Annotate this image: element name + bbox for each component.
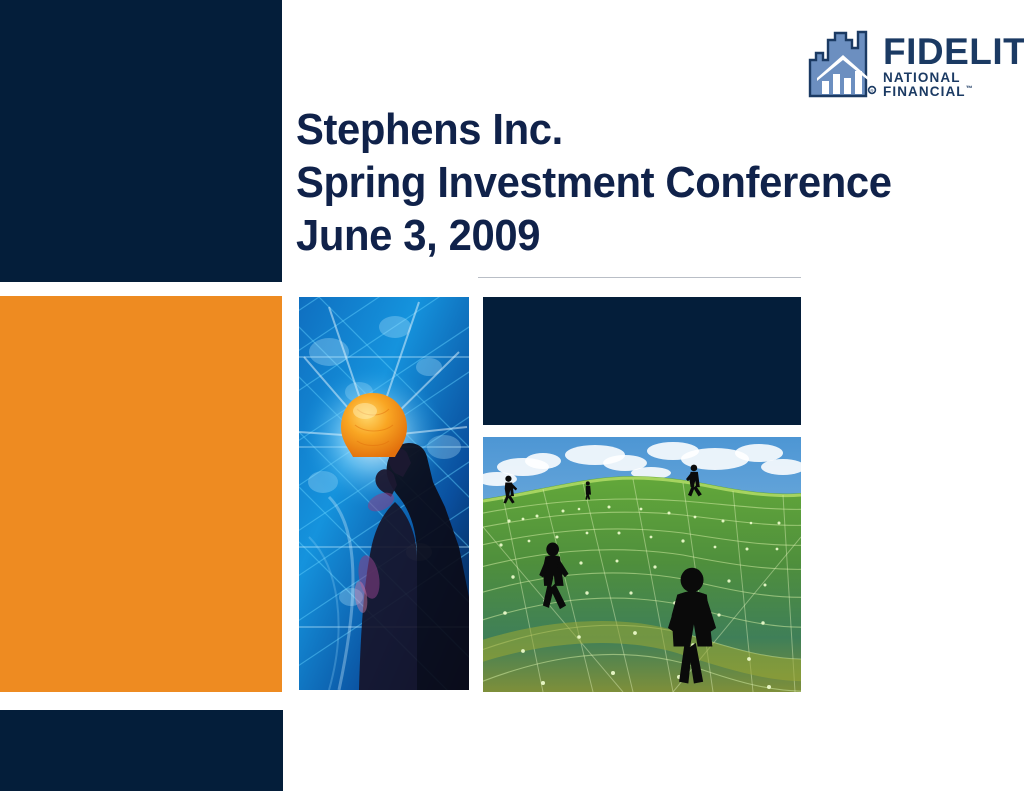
title-divider [478,277,801,278]
decorative-block-navy-middle [483,297,801,425]
logo-wordmark: FIDELITY NATIONAL FINANCIAL™ [883,34,1024,100]
title-line-3: June 3, 2009 [296,209,972,262]
title-line-1: Stephens Inc. [296,103,972,156]
presentation-slide: R FIDELITY NATIONAL FINANCIAL™ Stephens … [0,0,1024,791]
title-line-2: Spring Investment Conference [296,156,972,209]
image-hand-holding-glowing-bulb [299,297,469,690]
decorative-block-navy-top [0,0,282,282]
image-business-figures-circuit-landscape [483,437,801,692]
decorative-block-orange [0,296,282,692]
slide-title: Stephens Inc. Spring Investment Conferen… [296,103,1008,262]
logo-brand-text: FIDELITY [883,34,1024,69]
logo-subtitle-text: NATIONAL FINANCIAL™ [883,71,1024,98]
fidelity-national-financial-logo: R FIDELITY NATIONAL FINANCIAL™ [806,22,1016,100]
trademark-symbol: ™ [966,85,974,92]
skyline-house-icon: R [806,26,880,100]
decorative-block-navy-bottom [0,710,283,791]
